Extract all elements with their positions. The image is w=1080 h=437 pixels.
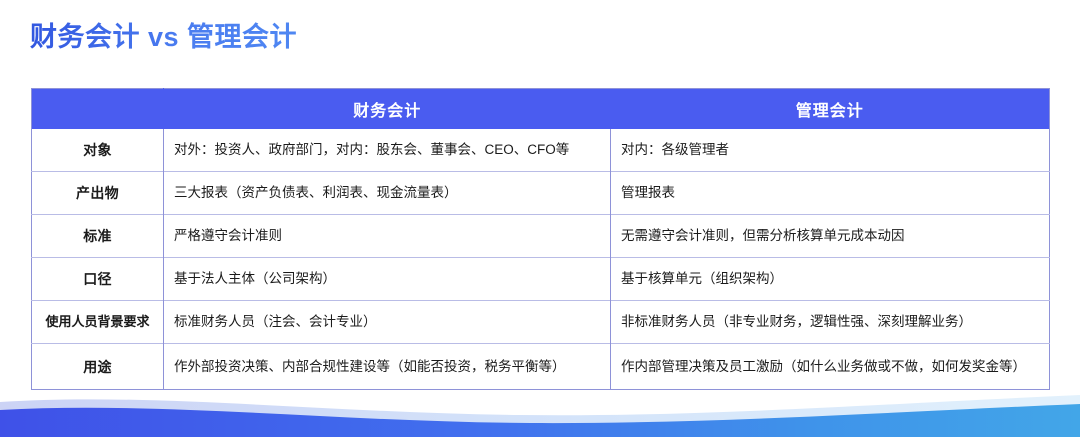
table-row: 口径 基于法人主体（公司架构） 基于核算单元（组织架构）	[32, 258, 1050, 301]
cell-financial: 严格遵守会计准则	[164, 215, 611, 258]
row-label: 标准	[32, 215, 164, 258]
table-row: 用途 作外部投资决策、内部合规性建设等（如能否投资，税务平衡等） 作内部管理决策…	[32, 344, 1050, 390]
row-label: 用途	[32, 344, 164, 390]
cell-management: 非标准财务人员（非专业财务，逻辑性强、深刻理解业务）	[611, 301, 1050, 344]
row-label: 使用人员背景要求	[32, 301, 164, 344]
cell-financial: 标准财务人员（注会、会计专业）	[164, 301, 611, 344]
column-header-financial-accounting: 财务会计	[164, 89, 611, 129]
cell-management: 基于核算单元（组织架构）	[611, 258, 1050, 301]
comparison-table: 财务会计 管理会计 对象 对外：投资人、政府部门，对内：股东会、董事会、CEO、…	[31, 88, 1050, 390]
table-header: 财务会计 管理会计	[32, 89, 1050, 129]
table-body: 对象 对外：投资人、政府部门，对内：股东会、董事会、CEO、CFO等 对内：各级…	[32, 129, 1050, 390]
cell-financial: 三大报表（资产负债表、利润表、现金流量表）	[164, 172, 611, 215]
column-header-management-accounting: 管理会计	[611, 89, 1050, 129]
table-header-row: 财务会计 管理会计	[32, 89, 1050, 129]
cell-management: 对内：各级管理者	[611, 129, 1050, 172]
row-label: 产出物	[32, 172, 164, 215]
cell-management: 管理报表	[611, 172, 1050, 215]
row-label: 对象	[32, 129, 164, 172]
table-row: 使用人员背景要求 标准财务人员（注会、会计专业） 非标准财务人员（非专业财务，逻…	[32, 301, 1050, 344]
cell-management: 无需遵守会计准则，但需分析核算单元成本动因	[611, 215, 1050, 258]
column-header-blank	[32, 89, 164, 129]
bottom-wave-decoration	[0, 389, 1080, 437]
cell-financial: 作外部投资决策、内部合规性建设等（如能否投资，税务平衡等）	[164, 344, 611, 390]
cell-financial: 对外：投资人、政府部门，对内：股东会、董事会、CEO、CFO等	[164, 129, 611, 172]
wave-front-layer	[0, 404, 1080, 437]
cell-financial: 基于法人主体（公司架构）	[164, 258, 611, 301]
cell-management: 作内部管理决策及员工激励（如什么业务做或不做，如何发奖金等）	[611, 344, 1050, 390]
comparison-table-wrapper: 财务会计 管理会计 对象 对外：投资人、政府部门，对内：股东会、董事会、CEO、…	[31, 88, 1049, 390]
table-row: 对象 对外：投资人、政府部门，对内：股东会、董事会、CEO、CFO等 对内：各级…	[32, 129, 1050, 172]
table-row: 产出物 三大报表（资产负债表、利润表、现金流量表） 管理报表	[32, 172, 1050, 215]
wave-back-layer	[0, 395, 1080, 437]
page-title: 财务会计 vs 管理会计	[30, 18, 297, 56]
row-label: 口径	[32, 258, 164, 301]
table-row: 标准 严格遵守会计准则 无需遵守会计准则，但需分析核算单元成本动因	[32, 215, 1050, 258]
